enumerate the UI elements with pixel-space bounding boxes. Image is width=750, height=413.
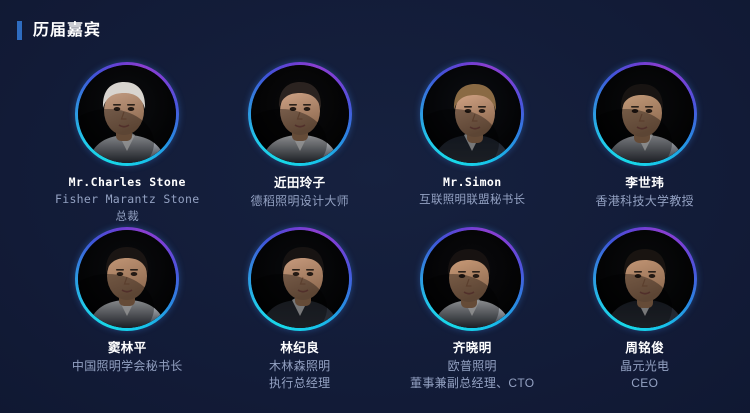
guest-gallery-page: 历届嘉宾: [0, 0, 750, 413]
guest-photo: [596, 65, 694, 163]
guest-affiliation: 晶元光电: [559, 359, 731, 375]
section-accent-bar: [17, 21, 22, 40]
guest-row-2: 窦林平中国照明学会秘书长: [0, 227, 750, 387]
avatar[interactable]: [251, 65, 349, 163]
guest-affiliation: Fisher Marantz Stone: [41, 192, 213, 207]
avatar[interactable]: [596, 65, 694, 163]
guest-affiliation: 互联照明联盟秘书长: [386, 192, 558, 207]
avatar[interactable]: [423, 230, 521, 328]
guest-row-1: Mr.Charles StoneFisher Marantz Stone总裁: [0, 62, 750, 227]
guest-card[interactable]: Mr.Charles StoneFisher Marantz Stone总裁: [41, 62, 214, 227]
guest-caption: Mr.Charles StoneFisher Marantz Stone总裁: [41, 175, 213, 225]
guest-caption: 周铭俊晶元光电CEO: [559, 340, 731, 392]
avatar[interactable]: [78, 230, 176, 328]
guest-card[interactable]: 近田玲子德稻照明设计大师: [214, 62, 387, 227]
guest-title: 总裁: [41, 209, 213, 224]
guest-card[interactable]: 周铭俊晶元光电CEO: [559, 227, 732, 387]
avatar-ring: [420, 227, 524, 331]
guest-name: 林纪良: [214, 340, 386, 357]
guest-caption: 窦林平中国照明学会秘书长: [41, 340, 213, 374]
guest-photo: [78, 230, 176, 328]
avatar-ring: [248, 62, 352, 166]
avatar-ring: [248, 227, 352, 331]
avatar-ring: [420, 62, 524, 166]
guest-name: 近田玲子: [214, 175, 386, 192]
guest-photo: [423, 65, 521, 163]
avatar[interactable]: [78, 65, 176, 163]
guest-title: CEO: [559, 376, 731, 392]
guest-affiliation: 木林森照明: [214, 359, 386, 375]
guest-caption: 李世玮香港科技大学教授: [559, 175, 731, 209]
guest-name: 李世玮: [559, 175, 731, 192]
guest-caption: 林纪良木林森照明执行总经理: [214, 340, 386, 392]
avatar-ring: [593, 62, 697, 166]
guest-title: 董事兼副总经理、CTO: [386, 376, 558, 392]
avatar[interactable]: [596, 230, 694, 328]
guest-card[interactable]: Mr.Simon互联照明联盟秘书长: [386, 62, 559, 227]
guest-photo: [251, 230, 349, 328]
page-title: 历届嘉宾: [33, 21, 101, 40]
avatar-ring: [75, 227, 179, 331]
avatar[interactable]: [251, 230, 349, 328]
guest-name: 周铭俊: [559, 340, 731, 357]
guest-affiliation: 欧普照明: [386, 359, 558, 375]
guest-card[interactable]: 林纪良木林森照明执行总经理: [214, 227, 387, 387]
guest-photo: [596, 230, 694, 328]
avatar[interactable]: [423, 65, 521, 163]
guest-affiliation: 中国照明学会秘书长: [41, 359, 213, 375]
guest-affiliation: 香港科技大学教授: [559, 194, 731, 210]
guest-photo: [251, 65, 349, 163]
guest-card[interactable]: 齐晓明欧普照明董事兼副总经理、CTO: [386, 227, 559, 387]
guest-card[interactable]: 李世玮香港科技大学教授: [559, 62, 732, 227]
guest-name: 齐晓明: [386, 340, 558, 357]
guest-name: Mr.Simon: [386, 175, 558, 190]
guest-grid: Mr.Charles StoneFisher Marantz Stone总裁: [0, 62, 750, 387]
guest-photo: [78, 65, 176, 163]
guest-caption: Mr.Simon互联照明联盟秘书长: [386, 175, 558, 207]
guest-caption: 近田玲子德稻照明设计大师: [214, 175, 386, 209]
guest-affiliation: 德稻照明设计大师: [214, 194, 386, 210]
guest-name: Mr.Charles Stone: [41, 175, 213, 190]
section-header: 历届嘉宾: [17, 19, 101, 41]
avatar-ring: [593, 227, 697, 331]
guest-caption: 齐晓明欧普照明董事兼副总经理、CTO: [386, 340, 558, 392]
guest-card[interactable]: 窦林平中国照明学会秘书长: [41, 227, 214, 387]
avatar-ring: [75, 62, 179, 166]
guest-photo: [423, 230, 521, 328]
guest-name: 窦林平: [41, 340, 213, 357]
guest-title: 执行总经理: [214, 376, 386, 392]
